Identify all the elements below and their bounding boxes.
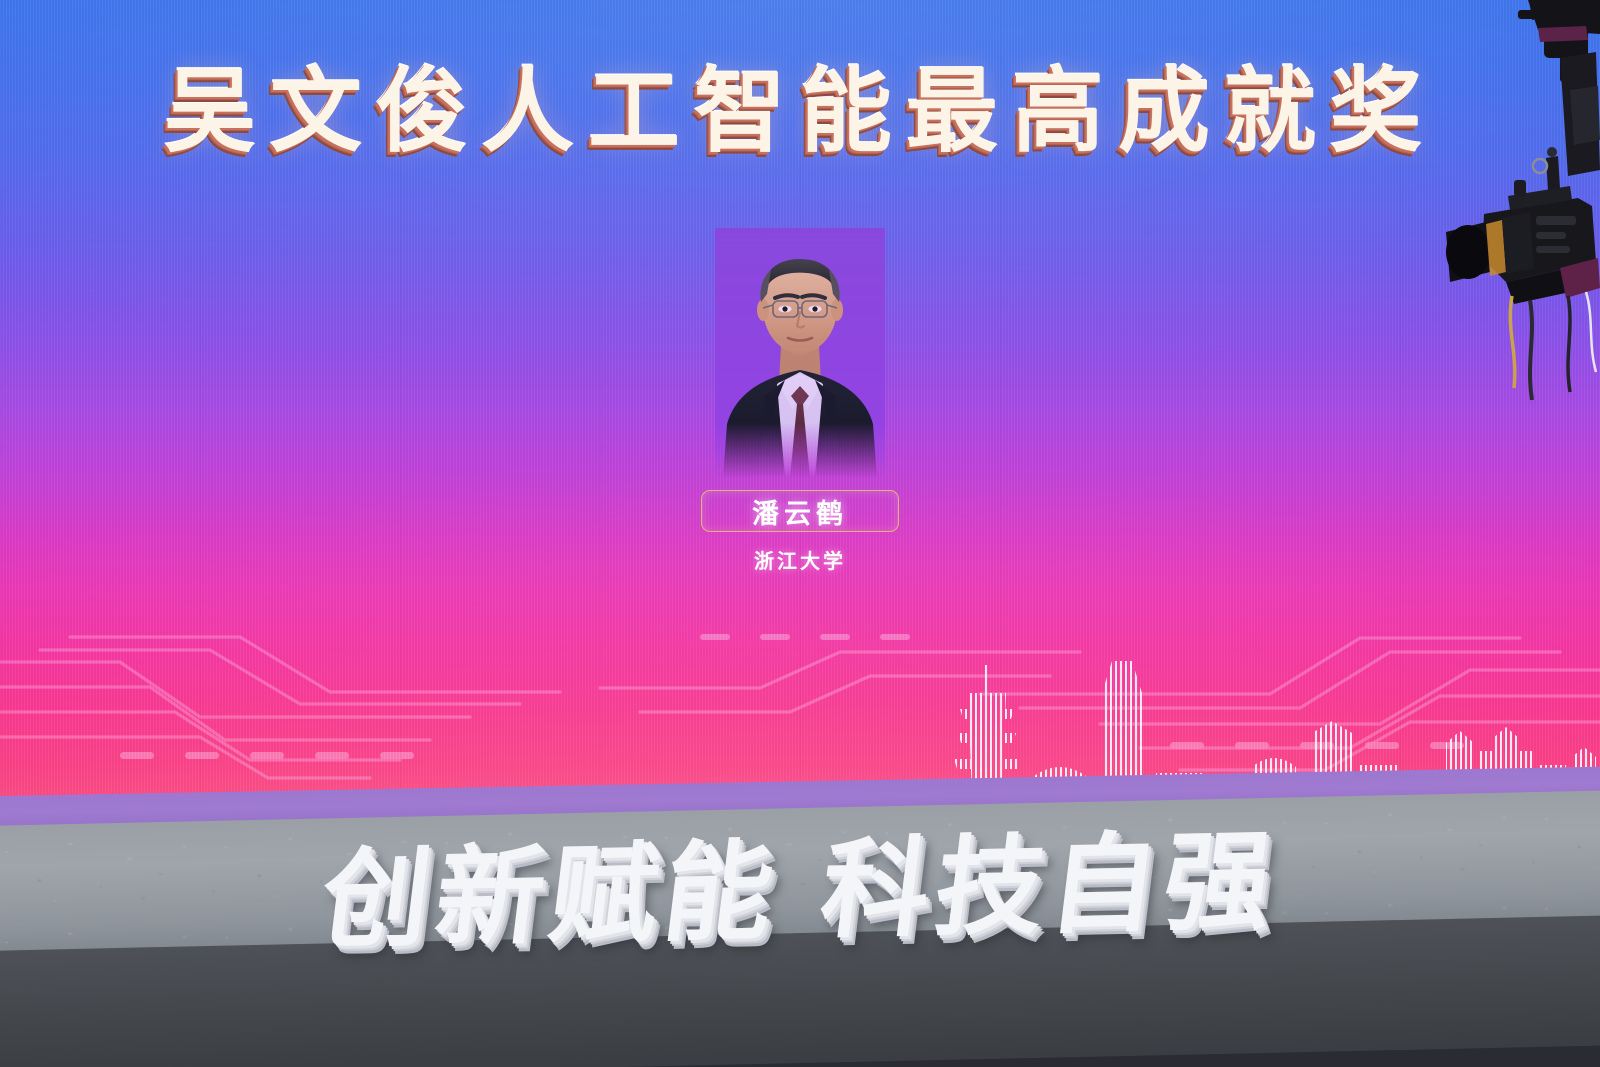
honoree-name-plate: 潘云鹤 [701, 490, 899, 532]
honoree-block: 潘云鹤 浙江大学 [695, 228, 905, 574]
honoree-portrait [715, 228, 885, 478]
honoree-name: 潘云鹤 [752, 492, 848, 531]
honoree-affiliation: 浙江大学 [695, 545, 905, 574]
broadcast-camera-rig [1410, 0, 1600, 420]
stage-photo: 吴文俊人工智能最高成就奖 [0, 0, 1600, 1067]
award-title: 吴文俊人工智能最高成就奖 [0, 66, 1600, 158]
